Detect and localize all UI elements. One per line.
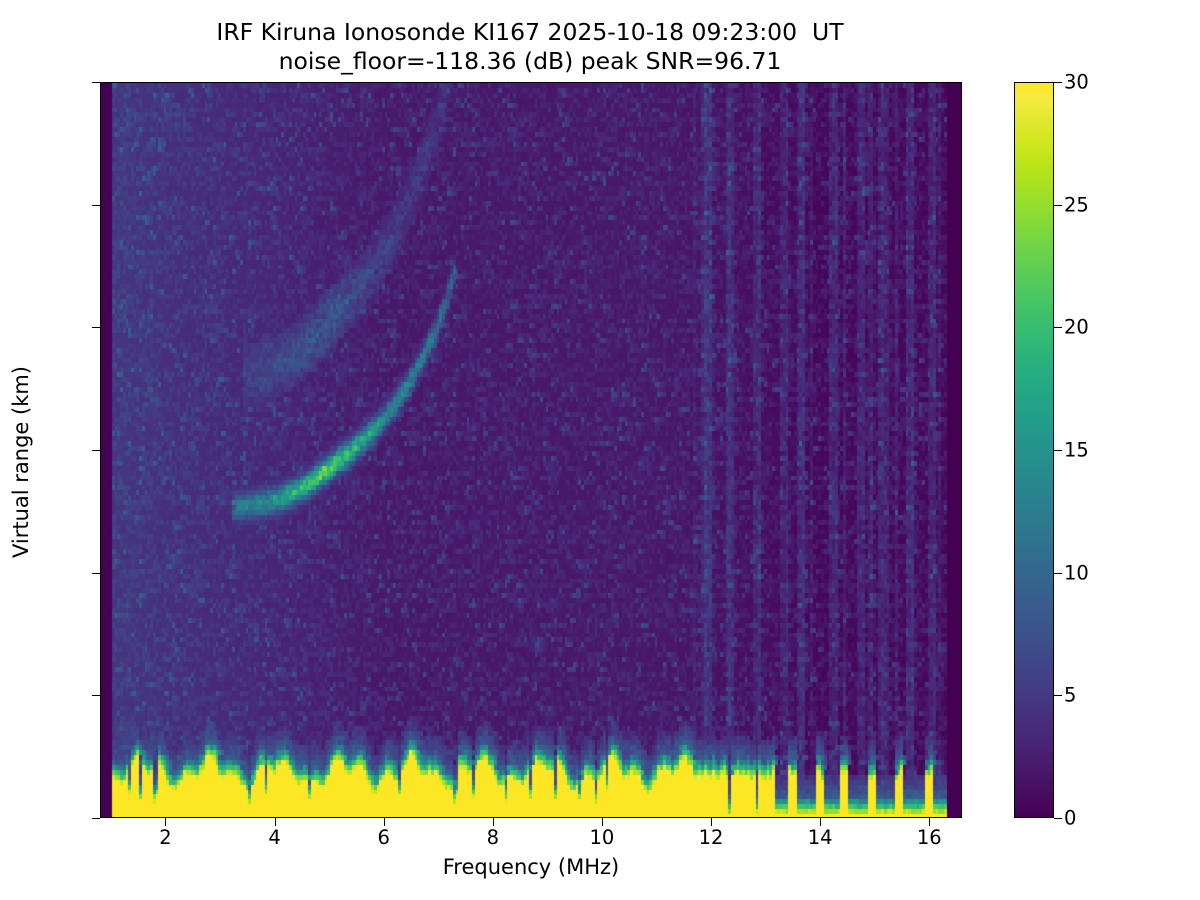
y-tick-mark [92, 573, 100, 574]
colorbar-tick-mark [1054, 695, 1062, 696]
x-axis-label: Frequency (MHz) [100, 855, 962, 879]
colorbar-tick-mark [1054, 818, 1062, 819]
y-tick-mark [92, 82, 100, 83]
x-tick-mark [711, 818, 712, 826]
x-tick-mark [602, 818, 603, 826]
plot-area[interactable] [100, 82, 962, 818]
colorbar-tick-mark [1054, 205, 1062, 206]
colorbar-tick-label: 15 [1064, 439, 1089, 462]
x-tick-label: 2 [159, 826, 171, 849]
colorbar-tick-label: 10 [1064, 561, 1089, 584]
x-tick-mark [165, 818, 166, 826]
x-tick-label: 12 [699, 826, 724, 849]
colorbar-gradient [1015, 83, 1053, 817]
colorbar-tick-mark [1054, 573, 1062, 574]
ionogram-heatmap [101, 83, 962, 818]
x-tick-mark [384, 818, 385, 826]
x-tick-mark [820, 818, 821, 826]
title-line-1: IRF Kiruna Ionosonde KI167 2025-10-18 09… [0, 18, 1060, 47]
x-tick-label: 16 [917, 826, 942, 849]
y-tick-mark [92, 450, 100, 451]
colorbar-tick-label: 5 [1064, 684, 1076, 707]
colorbar-tick-label: 30 [1064, 71, 1089, 94]
y-axis-label: Virtual range (km) [9, 312, 33, 612]
x-tick-mark [929, 818, 930, 826]
x-tick-label: 10 [590, 826, 615, 849]
y-tick-mark [92, 205, 100, 206]
x-tick-mark [275, 818, 276, 826]
x-tick-label: 8 [487, 826, 499, 849]
colorbar-tick-mark [1054, 327, 1062, 328]
y-tick-mark [92, 327, 100, 328]
colorbar-tick-label: 25 [1064, 193, 1089, 216]
colorbar[interactable] [1014, 82, 1054, 818]
colorbar-tick-label: 0 [1064, 807, 1076, 830]
colorbar-tick-mark [1054, 450, 1062, 451]
colorbar-tick-label: 20 [1064, 316, 1089, 339]
x-tick-label: 6 [377, 826, 389, 849]
title-line-2: noise_floor=-118.36 (dB) peak SNR=96.71 [0, 47, 1060, 76]
x-tick-label: 14 [808, 826, 833, 849]
x-tick-mark [493, 818, 494, 826]
y-tick-mark [92, 695, 100, 696]
chart-title: IRF Kiruna Ionosonde KI167 2025-10-18 09… [0, 18, 1060, 75]
x-tick-label: 4 [268, 826, 280, 849]
ionogram-figure: IRF Kiruna Ionosonde KI167 2025-10-18 09… [0, 0, 1200, 900]
y-tick-mark [92, 818, 100, 819]
colorbar-tick-mark [1054, 82, 1062, 83]
